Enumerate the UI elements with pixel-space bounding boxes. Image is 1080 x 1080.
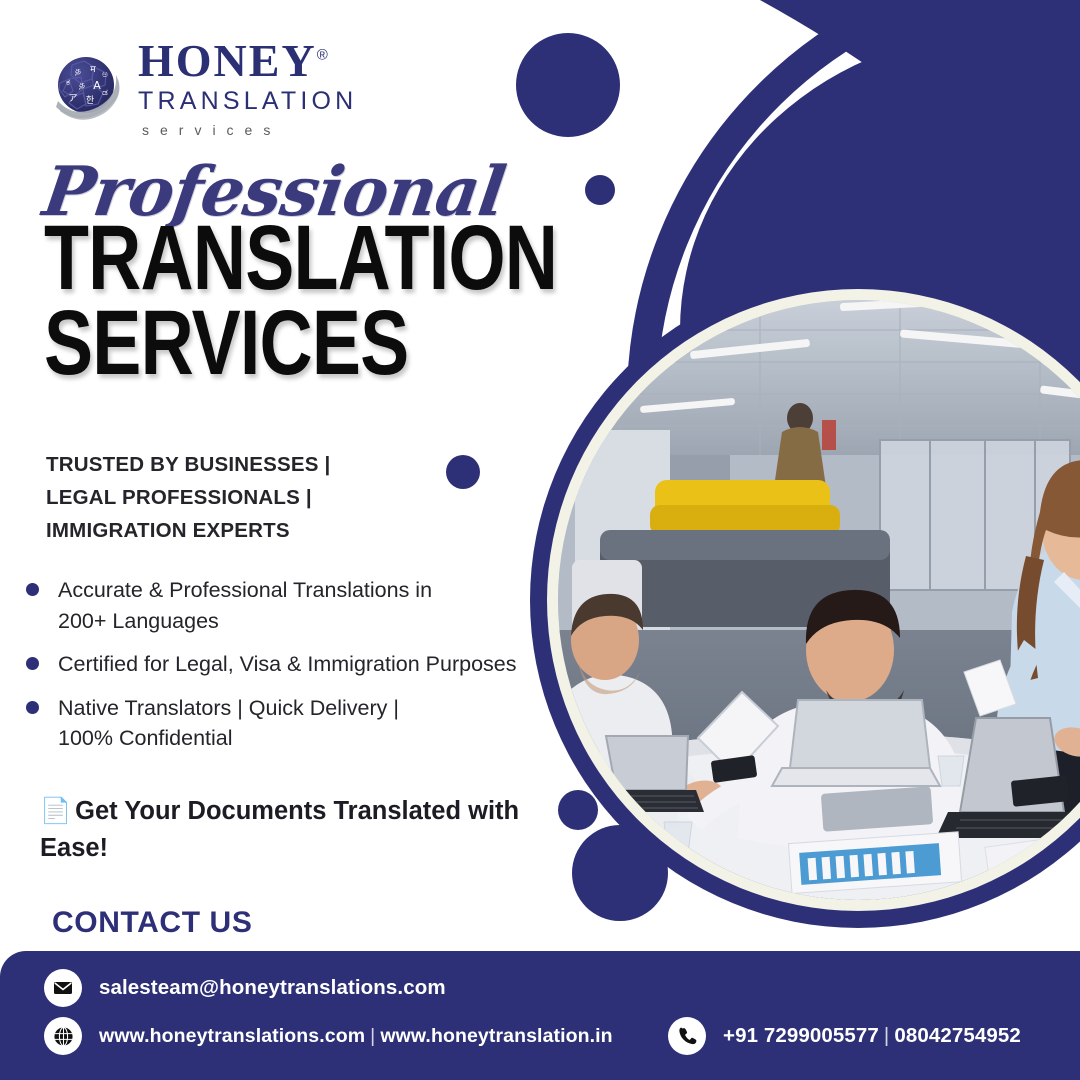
- logo-tertiary-text: services: [142, 123, 357, 137]
- phone-row[interactable]: +91 7299005577 | 08042754952: [668, 1017, 1021, 1055]
- contact-footer: salesteam@honeytranslations.com www.hone…: [0, 951, 1080, 1080]
- document-emoji-icon: 📄: [40, 797, 71, 825]
- list-item-label: Accurate & Professional Translations in …: [58, 575, 432, 636]
- svg-text:த: த: [79, 80, 85, 90]
- feature-list: Accurate & Professional Translations in …: [26, 575, 551, 767]
- phone-separator: |: [879, 1024, 894, 1048]
- phone-secondary[interactable]: 08042754952: [894, 1024, 1021, 1048]
- website-separator: |: [365, 1025, 380, 1048]
- bullet-dot-icon: [26, 701, 39, 714]
- logo-secondary-text: TRANSLATION: [138, 89, 357, 114]
- list-item-label: Certified for Legal, Visa & Immigration …: [58, 649, 516, 680]
- svg-text:ಅ: ಅ: [102, 70, 108, 80]
- logo-primary-text: HONEY®: [138, 38, 357, 84]
- svg-text:म: म: [90, 65, 96, 75]
- cta-label: Get Your Documents Translated with Ease!: [40, 797, 519, 862]
- email-address[interactable]: salesteam@honeytranslations.com: [99, 976, 446, 1000]
- globe-icon: [44, 1017, 82, 1055]
- website-row[interactable]: www.honeytranslations.com | www.honeytra…: [44, 1017, 613, 1055]
- svg-text:한: 한: [86, 95, 94, 106]
- globe-languages-icon: த म ಅ ಕ த A ア 한 ಡ: [48, 49, 126, 127]
- phone-primary[interactable]: +91 7299005577: [723, 1024, 879, 1048]
- list-item-label: Native Translators | Quick Delivery | 10…: [58, 693, 399, 754]
- list-item: Certified for Legal, Visa & Immigration …: [26, 649, 551, 680]
- registered-trademark-icon: ®: [317, 47, 330, 64]
- svg-text:ಡ: ಡ: [102, 88, 108, 98]
- svg-text:A: A: [93, 79, 101, 92]
- deco-circle-small-2: [558, 790, 598, 830]
- deco-circle-small: [585, 175, 615, 205]
- brand-logo[interactable]: த म ಅ ಕ த A ア 한 ಡ HONEY® TRANSLATION ser…: [48, 38, 357, 137]
- phone-icon: [668, 1017, 706, 1055]
- cta-text: 📄Get Your Documents Translated with Ease…: [40, 793, 530, 867]
- deco-circle-large: [516, 33, 620, 137]
- bullet-dot-icon: [26, 583, 39, 596]
- website-secondary[interactable]: www.honeytranslation.in: [380, 1025, 612, 1048]
- svg-text:த: த: [75, 66, 81, 76]
- email-row[interactable]: salesteam@honeytranslations.com: [44, 969, 446, 1007]
- svg-text:ಕ: ಕ: [66, 78, 70, 88]
- page-title: TRANSLATION SERVICES: [44, 216, 557, 385]
- website-primary[interactable]: www.honeytranslations.com: [99, 1025, 365, 1048]
- tagline: TRUSTED BY BUSINESSES | LEGAL PROFESSION…: [46, 448, 466, 548]
- envelope-icon: [44, 969, 82, 1007]
- poster-canvas: த म ಅ ಕ த A ア 한 ಡ HONEY® TRANSLATION ser…: [0, 0, 1080, 1080]
- list-item: Native Translators | Quick Delivery | 10…: [26, 693, 551, 754]
- svg-text:ア: ア: [68, 94, 77, 104]
- list-item: Accurate & Professional Translations in …: [26, 575, 551, 636]
- contact-heading: CONTACT US: [52, 906, 252, 940]
- bullet-dot-icon: [26, 657, 39, 670]
